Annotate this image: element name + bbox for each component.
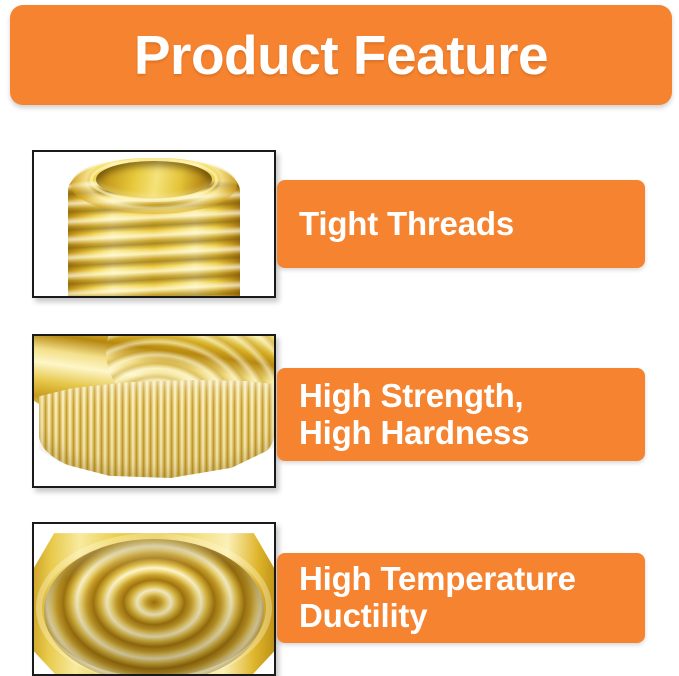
- bore-outer-lip: [36, 533, 271, 674]
- brass-knurled-edge-image: [34, 336, 274, 486]
- brass-internal-bore-image: [34, 524, 274, 674]
- feature-image-card: [32, 334, 276, 488]
- brass-threaded-fitting-image: [34, 152, 274, 296]
- feature-image-card: [32, 522, 276, 676]
- feature-row: High Strength, High Hardness: [0, 327, 679, 495]
- page-title: Product Feature: [134, 28, 548, 83]
- feature-label-bar: High Strength, High Hardness: [277, 368, 645, 461]
- knurled-band-shading: [39, 378, 274, 480]
- feature-label-text: Tight Threads: [277, 206, 514, 243]
- fitting-bore-lip: [90, 158, 217, 201]
- header-banner: Product Feature: [10, 5, 672, 105]
- feature-label-bar: High Temperature Ductility: [277, 553, 645, 643]
- feature-row: High Temperature Ductility: [0, 515, 679, 676]
- feature-row: Tight Threads: [0, 143, 679, 305]
- feature-label-bar: Tight Threads: [277, 180, 645, 268]
- feature-label-text: High Strength, High Hardness: [277, 378, 529, 452]
- feature-label-text: High Temperature Ductility: [277, 561, 576, 635]
- feature-image-card: [32, 150, 276, 298]
